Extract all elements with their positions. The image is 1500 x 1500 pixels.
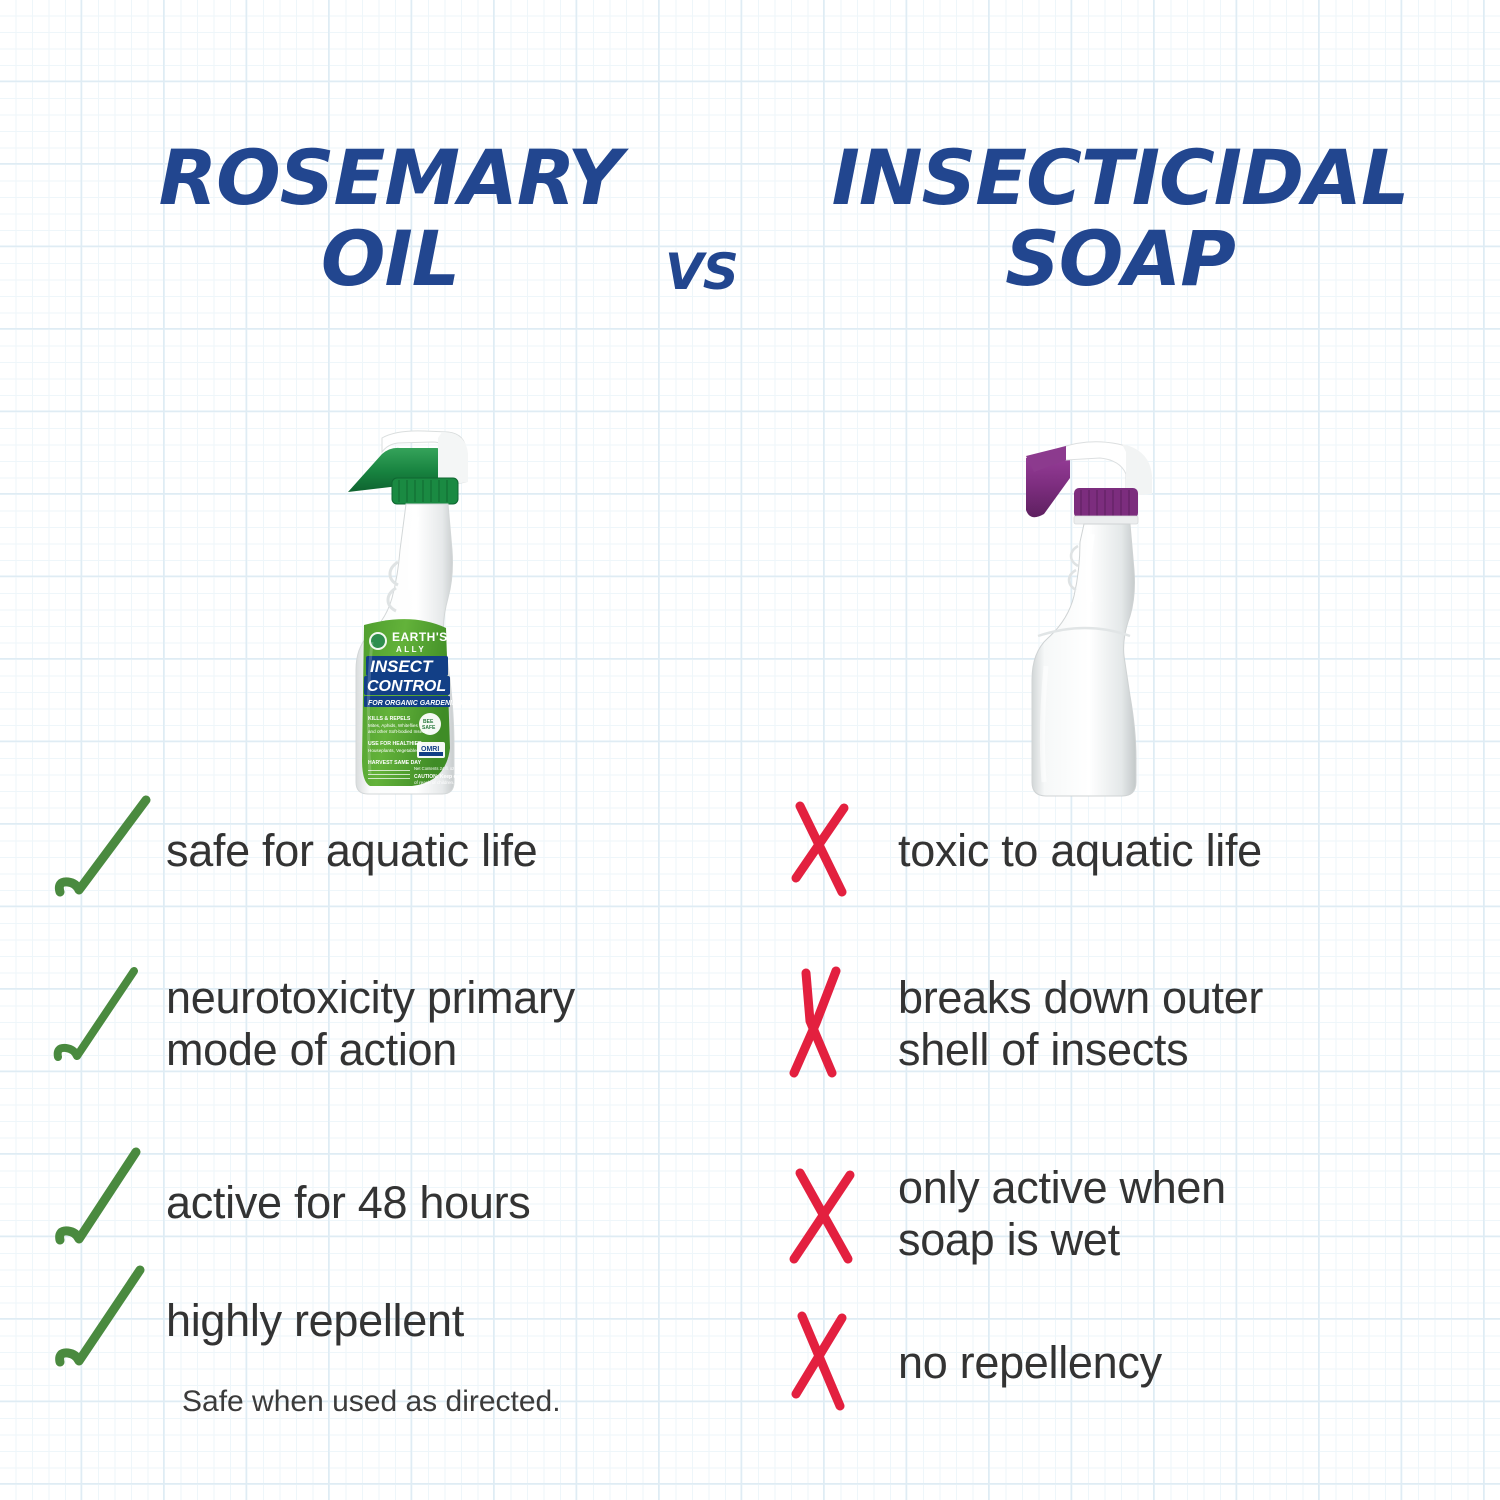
svg-text:Net Contents 24 fl. oz.: Net Contents 24 fl. oz. <box>414 766 455 771</box>
svg-text:EARTH'S: EARTH'S <box>392 630 448 644</box>
svg-text:INSECT: INSECT <box>370 657 434 676</box>
list-item-text: highly repellent <box>166 1295 464 1347</box>
list-item-text: no repellency <box>898 1337 1162 1389</box>
list-item: neurotoxicity primary mode of action <box>48 949 778 1099</box>
headline-block: ROSEMARY OIL VS INSECTICIDAL SOAP <box>0 120 1500 370</box>
list-item: no repellency <box>780 1307 1480 1419</box>
cross-icon <box>780 796 898 906</box>
list-item: safe for aquatic life <box>48 795 778 907</box>
svg-text:and other Soft-bodied Insects: and other Soft-bodied Insects <box>368 729 429 734</box>
check-icon <box>48 1148 166 1258</box>
svg-text:of reach of children.: of reach of children. <box>414 780 454 785</box>
svg-text:FOR ORGANIC GARDENING: FOR ORGANIC GARDENING <box>368 700 463 707</box>
list-item-text: neurotoxicity primary mode of action <box>166 972 575 1076</box>
list-item-line: mode of action <box>166 1024 575 1076</box>
cross-icon <box>780 969 898 1079</box>
vs-label: VS <box>665 248 738 296</box>
product-image-insecticidal-soap <box>1000 430 1200 805</box>
svg-text:OMRI: OMRI <box>421 746 439 753</box>
check-icon <box>48 969 166 1079</box>
list-item-text: toxic to aquatic life <box>898 825 1262 877</box>
cross-icon <box>780 1308 898 1418</box>
disclaimer-text: Safe when used as directed. <box>182 1385 778 1419</box>
list-item-text: breaks down outer shell of insects <box>898 972 1263 1076</box>
list-item-line: soap is wet <box>898 1214 1226 1266</box>
comparison-column-rosemary-oil: safe for aquatic life neurotoxicity prim… <box>48 795 778 1419</box>
list-item-line: safe for aquatic life <box>166 825 537 877</box>
comparison-column-insecticidal-soap: toxic to aquatic life breaks down outer … <box>780 795 1480 1419</box>
list-item-line: toxic to aquatic life <box>898 825 1262 877</box>
svg-text:KILLS & REPELS: KILLS & REPELS <box>368 716 411 722</box>
comparison-infographic: ROSEMARY OIL VS INSECTICIDAL SOAP <box>0 0 1500 1500</box>
svg-text:SAFE: SAFE <box>422 725 436 731</box>
list-item-line: neurotoxicity primary <box>166 972 575 1024</box>
title-left-line2: OIL <box>95 223 685 296</box>
list-item-text: only active when soap is wet <box>898 1162 1226 1266</box>
list-item: toxic to aquatic life <box>780 795 1480 907</box>
check-icon <box>48 796 166 906</box>
title-right-line2: SOAP <box>790 223 1450 296</box>
title-right-line1: INSECTICIDAL <box>790 142 1450 215</box>
cross-icon <box>780 1159 898 1269</box>
svg-text:ALLY: ALLY <box>396 645 426 654</box>
product-image-rosemary-oil: EARTH'S ALLY INSECT CONTROL FOR ORGANIC … <box>320 430 520 805</box>
list-item: highly repellent <box>48 1265 778 1377</box>
title-insecticidal-soap: INSECTICIDAL SOAP <box>790 142 1450 296</box>
check-icon <box>48 1266 166 1376</box>
list-item: breaks down outer shell of insects <box>780 949 1480 1099</box>
svg-text:Mites, Aphids, Whiteflies: Mites, Aphids, Whiteflies <box>368 723 418 728</box>
list-item-line: highly repellent <box>166 1295 464 1347</box>
list-item-line: shell of insects <box>898 1024 1263 1076</box>
list-item: only active when soap is wet <box>780 1139 1480 1289</box>
svg-text:CONTROL: CONTROL <box>367 678 446 695</box>
list-item-line: active for 48 hours <box>166 1177 531 1229</box>
list-item-text: active for 48 hours <box>166 1177 531 1229</box>
list-item-line: only active when <box>898 1162 1226 1214</box>
title-rosemary-oil: ROSEMARY OIL <box>95 142 685 296</box>
list-item-line: no repellency <box>898 1337 1162 1389</box>
list-item-text: safe for aquatic life <box>166 825 537 877</box>
list-item-line: breaks down outer <box>898 972 1263 1024</box>
list-item: active for 48 hours <box>48 1147 778 1259</box>
title-left-line1: ROSEMARY <box>95 142 685 215</box>
svg-text:USE FOR HEALTHIER: USE FOR HEALTHIER <box>368 741 422 747</box>
bee-safe-badge: BEE SAFE <box>419 713 441 735</box>
omri-badge: OMRI <box>417 742 445 758</box>
